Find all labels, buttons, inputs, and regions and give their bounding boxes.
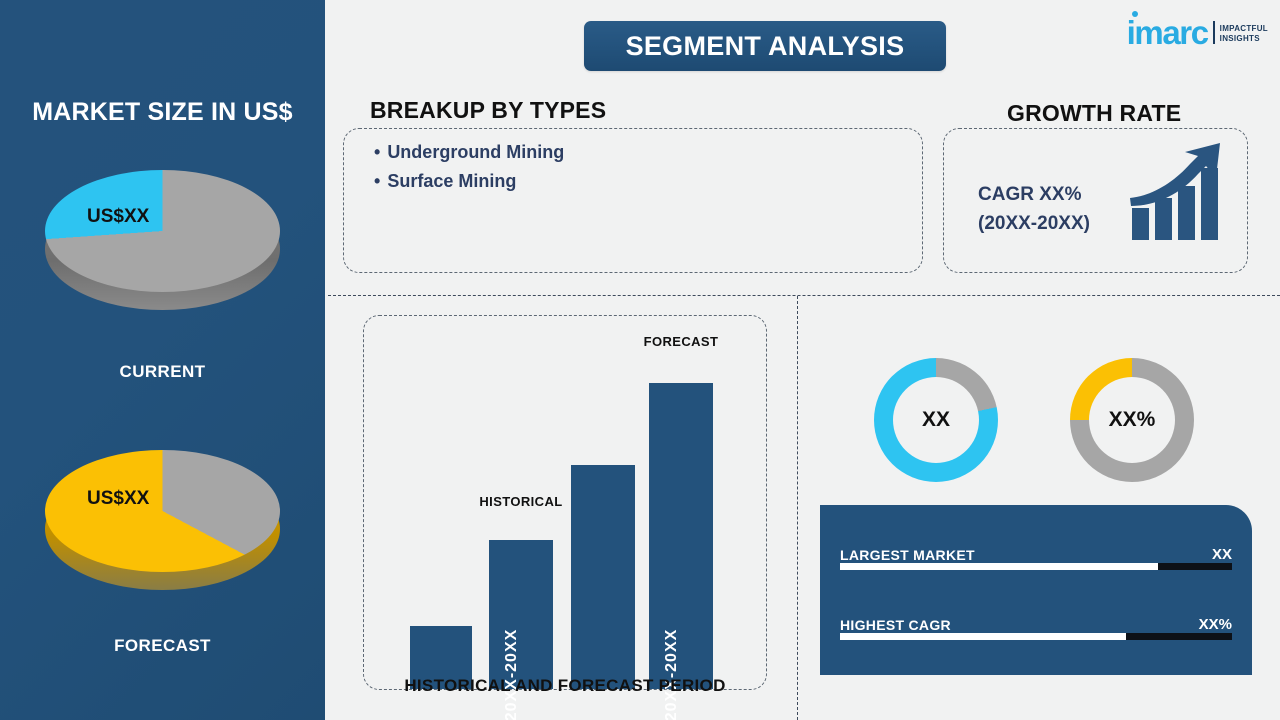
logo-tagline: IMPACTFUL INSIGHTS bbox=[1220, 24, 1268, 44]
pie-3d-forecast: US$XX bbox=[45, 450, 280, 600]
stat-track bbox=[840, 633, 1232, 640]
logo-wordmark: imarc bbox=[1127, 19, 1208, 47]
stats-panel: LARGEST MARKET XX HIGHEST CAGR XX% bbox=[820, 505, 1252, 675]
market-size-current-chart: US$XX CURRENT bbox=[0, 170, 325, 320]
bar-3: 20XX-20XX bbox=[649, 383, 713, 689]
growth-arrow-icon bbox=[1128, 142, 1228, 247]
stat-label: HIGHEST CAGR bbox=[840, 617, 951, 633]
breakup-heading: BREAKUP BY TYPES bbox=[370, 97, 606, 124]
list-item: Underground Mining bbox=[374, 138, 564, 167]
bar-1-period-label: 20XX-20XX bbox=[503, 629, 521, 720]
stat-fill bbox=[840, 633, 1126, 640]
page-title: SEGMENT ANALYSIS bbox=[626, 31, 905, 62]
pie-3d-current: US$XX bbox=[45, 170, 280, 320]
pie-label-current: US$XX bbox=[87, 206, 149, 228]
divider-horizontal bbox=[328, 295, 1280, 296]
logo-dot-icon bbox=[1132, 11, 1138, 17]
logo-tagline-line1: IMPACTFUL bbox=[1220, 24, 1268, 34]
stat-row-highest-cagr: HIGHEST CAGR XX% bbox=[840, 608, 1232, 640]
stat-track bbox=[840, 563, 1232, 570]
imarc-logo: imarc IMPACTFUL INSIGHTS bbox=[1127, 13, 1268, 47]
stat-value: XX bbox=[1212, 546, 1232, 563]
market-size-forecast-chart: US$XX FORECAST bbox=[0, 450, 325, 600]
pie-top-current bbox=[45, 170, 280, 292]
bar-3-period-label: 20XX-20XX bbox=[663, 629, 681, 720]
percent-donut-center: XX% bbox=[1089, 377, 1175, 463]
bar-chart-box: 20XX-20XX HISTORICAL 20XX-20XX FORECAST bbox=[363, 315, 767, 690]
sidebar-title: MARKET SIZE IN US$ bbox=[0, 98, 325, 127]
units-donut-value: XX bbox=[922, 408, 950, 432]
stat-label: LARGEST MARKET bbox=[840, 547, 975, 563]
pie-top-forecast bbox=[45, 450, 280, 572]
list-item: Surface Mining bbox=[374, 167, 564, 196]
bar-3-annotation: FORECAST bbox=[644, 334, 719, 349]
cagr-line1: CAGR XX% bbox=[978, 180, 1090, 209]
divider-vertical bbox=[797, 296, 798, 720]
stat-fill bbox=[840, 563, 1158, 570]
cagr-text: CAGR XX% (20XX-20XX) bbox=[978, 180, 1090, 238]
infographic-canvas: MARKET SIZE IN US$ US$XX CURRENT US$XX F… bbox=[0, 0, 1280, 720]
bar-2 bbox=[571, 465, 635, 689]
units-donut-center: XX bbox=[893, 377, 979, 463]
units-donut: XX bbox=[874, 358, 998, 482]
logo-divider bbox=[1213, 21, 1215, 44]
pie-caption-forecast: FORECAST bbox=[0, 636, 325, 656]
bar-1-annotation: HISTORICAL bbox=[479, 494, 562, 509]
cagr-line2: (20XX-20XX) bbox=[978, 209, 1090, 238]
stat-value: XX% bbox=[1199, 616, 1232, 633]
bar-1: 20XX-20XX bbox=[489, 540, 553, 689]
bar-chart-axis-label: HISTORICAL AND FORECAST PERIOD bbox=[363, 676, 767, 696]
pie-label-forecast: US$XX bbox=[87, 488, 149, 510]
sidebar-panel: MARKET SIZE IN US$ US$XX CURRENT US$XX F… bbox=[0, 0, 325, 720]
percent-donut: XX% bbox=[1070, 358, 1194, 482]
growth-rate-heading: GROWTH RATE bbox=[1007, 100, 1181, 127]
page-title-banner: SEGMENT ANALYSIS bbox=[584, 21, 946, 71]
pie-caption-current: CURRENT bbox=[0, 362, 325, 382]
logo-mark-text: imarc bbox=[1127, 14, 1208, 51]
percent-donut-value: XX% bbox=[1109, 408, 1156, 432]
stat-row-largest-market: LARGEST MARKET XX bbox=[840, 538, 1232, 570]
breakup-list: Underground Mining Surface Mining bbox=[374, 138, 564, 196]
logo-tagline-line2: INSIGHTS bbox=[1220, 34, 1268, 44]
